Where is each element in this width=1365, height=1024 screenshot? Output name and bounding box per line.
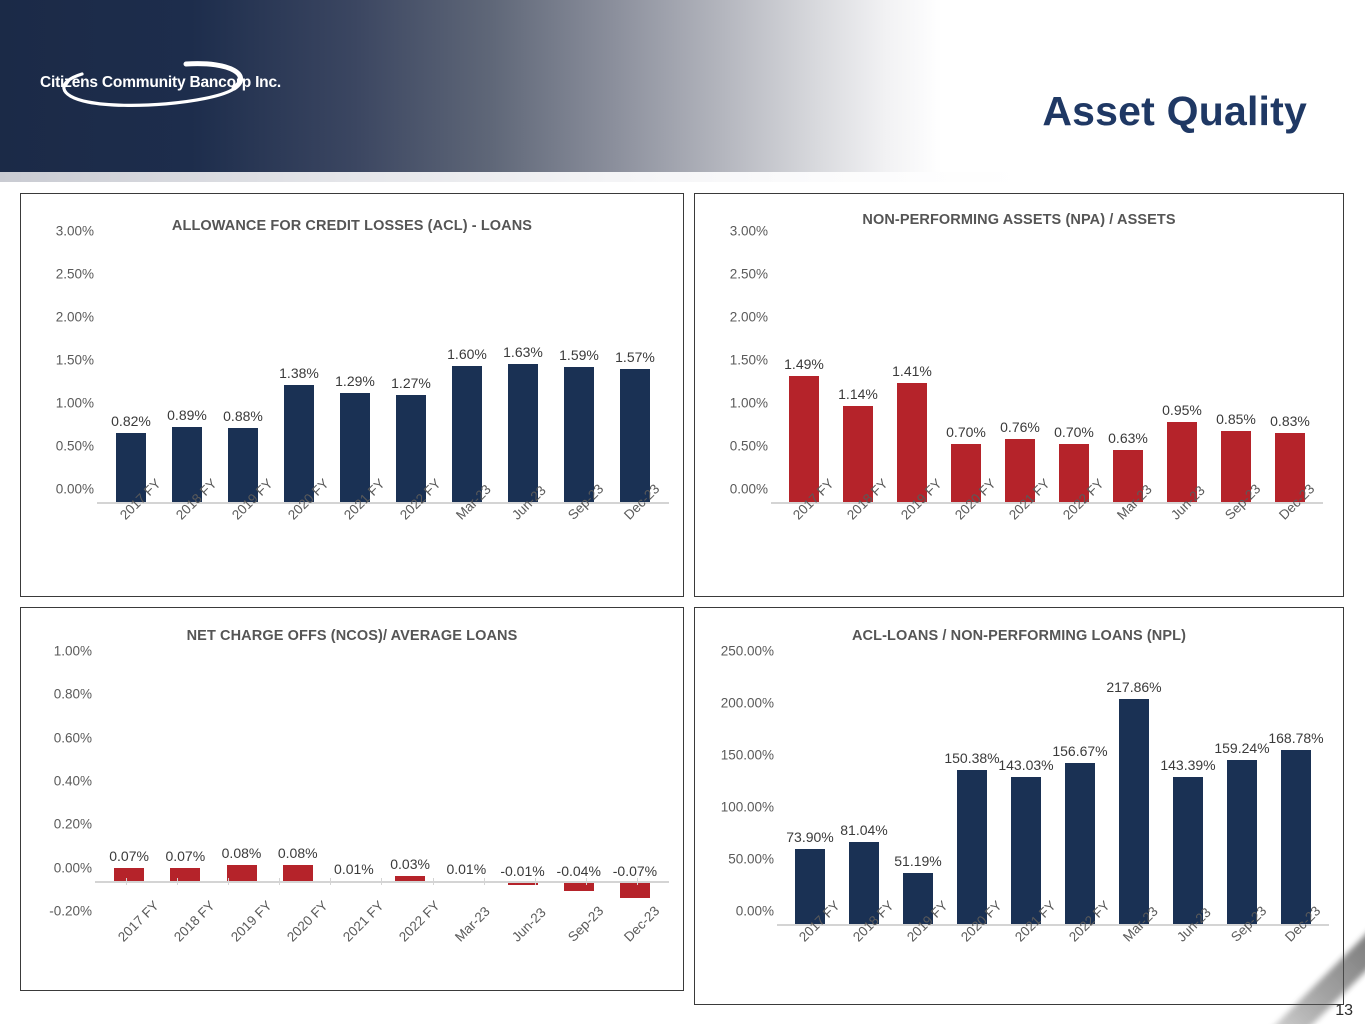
bar-value-label: 1.14% — [838, 386, 878, 402]
bar-item[interactable]: 0.08% — [213, 666, 269, 926]
bar-value-label: 0.95% — [1162, 402, 1202, 418]
plot-area: 0.82%0.89%0.88%1.38%1.29%1.27%1.60%1.63%… — [103, 246, 663, 504]
y-axis-tick: 1.00% — [730, 396, 768, 411]
y-axis-tick: 1.50% — [730, 353, 768, 368]
x-axis-labels: 2017 FY2018 FY2019 FY2020 FY2021 FY2022 … — [777, 506, 1317, 566]
x-axis-label-cell: Dec-23 — [1269, 928, 1323, 988]
x-axis-label-cell: Sep-23 — [551, 506, 607, 566]
x-axis-label-cell: Jun-23 — [1161, 928, 1215, 988]
x-axis-label-cell: 2022 FY — [382, 928, 438, 988]
bar-item[interactable]: 0.70% — [1047, 246, 1101, 504]
bar-value-label: 150.38% — [944, 750, 999, 766]
bar-value-label: 168.78% — [1268, 730, 1323, 746]
bar-item[interactable]: 0.85% — [1209, 246, 1263, 504]
y-axis-tick: 2.00% — [730, 310, 768, 325]
bar-item[interactable]: 0.07% — [101, 666, 157, 926]
y-axis-tick: 0.40% — [54, 774, 92, 789]
plot-area: 1.49%1.14%1.41%0.70%0.76%0.70%0.63%0.95%… — [777, 246, 1317, 504]
x-axis-label-cell: 2019 FY — [213, 928, 269, 988]
y-axis-tick: 100.00% — [721, 800, 774, 815]
y-axis-tick: 3.00% — [56, 224, 94, 239]
bar-item[interactable]: 143.39% — [1161, 666, 1215, 926]
bar-value-label: 1.63% — [503, 344, 543, 360]
bar-item[interactable]: 0.07% — [157, 666, 213, 926]
bar-item[interactable]: 0.01% — [438, 666, 494, 926]
bar-item[interactable]: 1.59% — [551, 246, 607, 504]
bar-item[interactable]: 150.38% — [945, 666, 999, 926]
x-axis-label-cell: 2020 FY — [945, 928, 999, 988]
bar-item[interactable]: 1.14% — [831, 246, 885, 504]
y-axis-tick: 200.00% — [721, 696, 774, 711]
bar[interactable] — [1281, 750, 1311, 926]
x-axis-tickmarks — [101, 878, 663, 885]
x-axis-label-cell: Mar-23 — [439, 506, 495, 566]
bar-value-label: 1.60% — [447, 346, 487, 362]
bar[interactable] — [1011, 777, 1041, 926]
bar-value-label: 0.89% — [167, 407, 207, 423]
plot-area: 0.07%0.07%0.08%0.08%0.01%0.03%0.01%-0.01… — [101, 666, 663, 926]
y-axis-tick: 0.00% — [730, 482, 768, 497]
bar-item[interactable]: 81.04% — [837, 666, 891, 926]
bar-value-label: 0.63% — [1108, 430, 1148, 446]
bar-item[interactable]: 0.95% — [1155, 246, 1209, 504]
bar-value-label: 0.88% — [223, 408, 263, 424]
y-axis-tick: 50.00% — [728, 852, 774, 867]
bar-item[interactable]: 143.03% — [999, 666, 1053, 926]
y-axis-tick: 0.50% — [56, 439, 94, 454]
x-axis-label-cell: 2021 FY — [999, 928, 1053, 988]
bar[interactable] — [1227, 760, 1257, 926]
bar-item[interactable]: 0.82% — [103, 246, 159, 504]
bar-item[interactable]: -0.04% — [551, 666, 607, 926]
bar-item[interactable]: 0.83% — [1263, 246, 1317, 504]
y-axis-tick: 2.50% — [730, 267, 768, 282]
chart-title: ALLOWANCE FOR CREDIT LOSSES (ACL) - LOAN… — [21, 218, 683, 234]
bar-value-label: 81.04% — [840, 822, 887, 838]
y-axis-tick: 0.60% — [54, 730, 92, 745]
chart-panel-ncos-average-loans: NET CHARGE OFFS (NCOS)/ AVERAGE LOANS 0.… — [20, 607, 684, 991]
y-axis-tick: 2.00% — [56, 310, 94, 325]
bar-value-label: 159.24% — [1214, 740, 1269, 756]
x-axis-label-cell: 2021 FY — [326, 928, 382, 988]
y-axis-tick: 0.00% — [54, 860, 92, 875]
bar-item[interactable]: 0.88% — [215, 246, 271, 504]
bar-value-label: 143.03% — [998, 757, 1053, 773]
x-axis-labels: 2017 FY2018 FY2019 FY2020 FY2021 FY2022 … — [101, 928, 663, 988]
x-axis-label-cell: Dec-23 — [607, 928, 663, 988]
bar-series: 0.07%0.07%0.08%0.08%0.01%0.03%0.01%-0.01… — [101, 666, 663, 926]
y-axis-tick: 1.00% — [56, 396, 94, 411]
y-axis-tick: 3.00% — [730, 224, 768, 239]
x-axis-label-cell: 2018 FY — [159, 506, 215, 566]
bar-value-label: 143.39% — [1160, 757, 1215, 773]
x-axis-label-cell: 2020 FY — [939, 506, 993, 566]
x-axis-label-cell: 2022 FY — [383, 506, 439, 566]
company-logo-text: Citizens Community Bancorp Inc. — [40, 74, 281, 92]
x-axis-label-cell: 2019 FY — [215, 506, 271, 566]
chart-panel-npa-assets: NON-PERFORMING ASSETS (NPA) / ASSETS 1.4… — [694, 193, 1344, 597]
x-axis-label-cell: Sep-23 — [1209, 506, 1263, 566]
y-axis-tick: 0.00% — [56, 482, 94, 497]
bar[interactable] — [957, 770, 987, 926]
x-axis-label-cell: 2017 FY — [103, 506, 159, 566]
bar-item[interactable]: 1.63% — [495, 246, 551, 504]
chart-title: NON-PERFORMING ASSETS (NPA) / ASSETS — [695, 212, 1343, 228]
slide: Citizens Community Bancorp Inc. Asset Qu… — [0, 0, 1365, 1024]
bar[interactable] — [508, 364, 538, 504]
x-axis-label-cell: 2021 FY — [327, 506, 383, 566]
bar-item[interactable]: 73.90% — [783, 666, 837, 926]
x-axis-label-cell: 2019 FY — [891, 928, 945, 988]
bar-item[interactable]: 159.24% — [1215, 666, 1269, 926]
bar-value-label: -0.07% — [613, 863, 657, 879]
bar-item[interactable]: 0.70% — [939, 246, 993, 504]
bar-item[interactable]: 1.60% — [439, 246, 495, 504]
y-axis-tick: 0.50% — [730, 439, 768, 454]
y-axis-tick: 1.50% — [56, 353, 94, 368]
x-axis-label-cell: Dec-23 — [1263, 506, 1317, 566]
x-axis-label-cell: 2017 FY — [777, 506, 831, 566]
bar-value-label: 73.90% — [786, 829, 833, 845]
y-axis-tick: 2.50% — [56, 267, 94, 282]
bar-value-label: 156.67% — [1052, 743, 1107, 759]
x-axis-label-cell: 2018 FY — [837, 928, 891, 988]
x-axis-label-cell: 2021 FY — [993, 506, 1047, 566]
x-axis-label-cell: Jun-23 — [495, 506, 551, 566]
bar-item[interactable]: -0.01% — [494, 666, 550, 926]
bar-value-label: 1.38% — [279, 365, 319, 381]
x-axis-label-cell: Mar-23 — [1101, 506, 1155, 566]
bar-value-label: 0.70% — [946, 424, 986, 440]
page-number: 13 — [1335, 1002, 1353, 1020]
x-axis-label-cell: Mar-23 — [1107, 928, 1161, 988]
bar-item[interactable]: 1.38% — [271, 246, 327, 504]
bar-item[interactable]: 0.63% — [1101, 246, 1155, 504]
chart-panel-acl-loans-npl: ACL-LOANS / NON-PERFORMING LOANS (NPL) 7… — [694, 607, 1344, 1005]
bar-item[interactable]: -0.07% — [607, 666, 663, 926]
bar-item[interactable]: 1.29% — [327, 246, 383, 504]
bar-item[interactable]: 0.08% — [270, 666, 326, 926]
bar[interactable] — [1173, 777, 1203, 926]
bar-value-label: 0.03% — [390, 856, 430, 872]
x-axis-label-cell: 2017 FY — [783, 928, 837, 988]
x-axis-label-cell: Jun-23 — [1155, 506, 1209, 566]
bar-series: 1.49%1.14%1.41%0.70%0.76%0.70%0.63%0.95%… — [777, 246, 1317, 504]
bar-value-label: 0.07% — [165, 848, 205, 864]
bar-value-label: 1.41% — [892, 363, 932, 379]
bar-value-label: 1.27% — [391, 375, 431, 391]
bar-item[interactable]: 1.49% — [777, 246, 831, 504]
x-axis-labels: 2017 FY2018 FY2019 FY2020 FY2021 FY2022 … — [783, 928, 1323, 988]
bar-value-label: 1.29% — [335, 373, 375, 389]
x-axis-label-cell: Mar-23 — [438, 928, 494, 988]
bar-item[interactable]: 0.03% — [382, 666, 438, 926]
bar-series: 73.90%81.04%51.19%150.38%143.03%156.67%2… — [783, 666, 1323, 926]
bar-value-label: 0.85% — [1216, 411, 1256, 427]
bar-value-label: 0.07% — [109, 848, 149, 864]
bar-item[interactable]: 0.01% — [326, 666, 382, 926]
x-axis-label-cell: 2019 FY — [885, 506, 939, 566]
bar-value-label: 217.86% — [1106, 679, 1161, 695]
bar[interactable] — [1065, 763, 1095, 926]
x-axis-label-cell: Sep-23 — [551, 928, 607, 988]
bar-item[interactable]: 1.57% — [607, 246, 663, 504]
chart-panel-acl-loans: ALLOWANCE FOR CREDIT LOSSES (ACL) - LOAN… — [20, 193, 684, 597]
bar-value-label: 1.59% — [559, 347, 599, 363]
x-axis-label-cell: 2017 FY — [101, 928, 157, 988]
x-axis-label-cell: 2020 FY — [271, 506, 327, 566]
y-axis-tick: 0.00% — [736, 904, 774, 919]
x-axis-label-cell: Dec-23 — [607, 506, 663, 566]
plot-area: 73.90%81.04%51.19%150.38%143.03%156.67%2… — [783, 666, 1323, 926]
bar-value-label: 51.19% — [894, 853, 941, 869]
x-axis-label-cell: 2018 FY — [157, 928, 213, 988]
y-axis-tick: 0.20% — [54, 817, 92, 832]
x-axis-label-cell: Jun-23 — [494, 928, 550, 988]
bar-item[interactable]: 156.67% — [1053, 666, 1107, 926]
bar-value-label: 1.57% — [615, 349, 655, 365]
bar-item[interactable]: 168.78% — [1269, 666, 1323, 926]
bar-series: 0.82%0.89%0.88%1.38%1.29%1.27%1.60%1.63%… — [103, 246, 663, 504]
x-axis-label-cell: 2022 FY — [1053, 928, 1107, 988]
chart-title: ACL-LOANS / NON-PERFORMING LOANS (NPL) — [695, 628, 1343, 644]
bar[interactable] — [620, 369, 650, 504]
bar-value-label: -0.01% — [500, 863, 544, 879]
bar-item[interactable]: 0.89% — [159, 246, 215, 504]
bar-value-label: 0.76% — [1000, 419, 1040, 435]
y-axis-tick: 0.80% — [54, 687, 92, 702]
x-axis-label-cell: Sep-23 — [1215, 928, 1269, 988]
chart-title: NET CHARGE OFFS (NCOS)/ AVERAGE LOANS — [21, 628, 683, 644]
y-axis-tick: 250.00% — [721, 644, 774, 659]
bar[interactable] — [789, 376, 819, 504]
bar-value-label: 0.08% — [278, 845, 318, 861]
bar-item[interactable]: 51.19% — [891, 666, 945, 926]
bar-item[interactable]: 1.41% — [885, 246, 939, 504]
bar-item[interactable]: 217.86% — [1107, 666, 1161, 926]
bar-value-label: 1.49% — [784, 356, 824, 372]
bar-value-label: 0.83% — [1270, 413, 1310, 429]
x-axis-label-cell: 2018 FY — [831, 506, 885, 566]
bar-value-label: 0.01% — [446, 861, 486, 877]
y-axis-tick: -0.20% — [49, 904, 92, 919]
bar-value-label: -0.04% — [557, 863, 601, 879]
bar[interactable] — [452, 366, 482, 504]
x-axis-labels: 2017 FY2018 FY2019 FY2020 FY2021 FY2022 … — [103, 506, 663, 566]
bar-value-label: 0.01% — [334, 861, 374, 877]
x-axis-label-cell: 2020 FY — [270, 928, 326, 988]
header-underline — [0, 172, 1365, 182]
x-axis-label-cell: 2022 FY — [1047, 506, 1101, 566]
y-axis-tick: 150.00% — [721, 748, 774, 763]
bar-value-label: 0.08% — [222, 845, 262, 861]
bar[interactable] — [1119, 699, 1149, 926]
bar-value-label: 0.70% — [1054, 424, 1094, 440]
bar-value-label: 0.82% — [111, 413, 151, 429]
bar[interactable] — [564, 367, 594, 504]
page-title: Asset Quality — [1042, 88, 1307, 135]
y-axis-tick: 1.00% — [54, 644, 92, 659]
bar-item[interactable]: 1.27% — [383, 246, 439, 504]
bar-item[interactable]: 0.76% — [993, 246, 1047, 504]
